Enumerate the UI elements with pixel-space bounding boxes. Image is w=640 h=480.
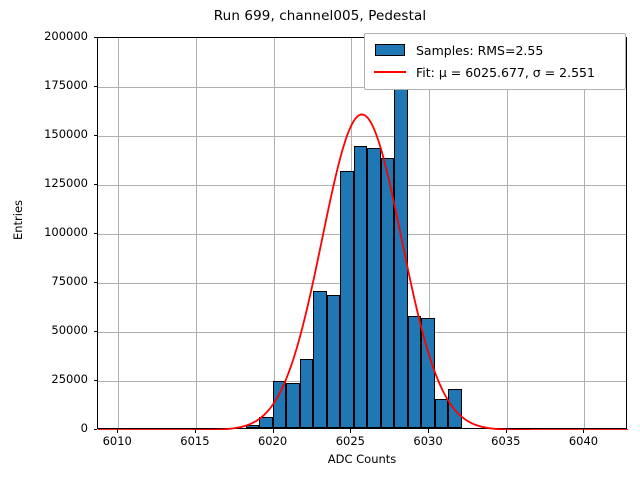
y-tick bbox=[94, 380, 98, 381]
gaussian-fit-curve bbox=[98, 38, 628, 430]
y-tick bbox=[94, 282, 98, 283]
y-tick bbox=[94, 429, 98, 430]
x-tick-label: 6015 bbox=[160, 434, 230, 448]
y-tick bbox=[94, 135, 98, 136]
x-tick bbox=[195, 429, 196, 433]
y-tick-label: 150000 bbox=[0, 127, 88, 141]
x-tick-label: 6035 bbox=[471, 434, 541, 448]
y-tick-label: 175000 bbox=[0, 78, 88, 92]
y-tick-label: 200000 bbox=[0, 29, 88, 43]
x-tick-label: 6020 bbox=[238, 434, 308, 448]
y-tick bbox=[94, 37, 98, 38]
x-tick bbox=[428, 429, 429, 433]
legend-item-fit: Fit: μ = 6025.677, σ = 2.551 bbox=[372, 61, 618, 83]
x-tick bbox=[350, 429, 351, 433]
legend-label-samples: Samples: RMS=2.55 bbox=[408, 43, 543, 58]
x-tick bbox=[273, 429, 274, 433]
plot-area bbox=[97, 37, 627, 429]
y-tick-label: 25000 bbox=[0, 372, 88, 386]
y-tick bbox=[94, 233, 98, 234]
y-tick bbox=[94, 86, 98, 87]
legend: Samples: RMS=2.55 Fit: μ = 6025.677, σ =… bbox=[364, 33, 626, 90]
y-tick bbox=[94, 184, 98, 185]
x-tick-label: 6030 bbox=[393, 434, 463, 448]
legend-item-samples: Samples: RMS=2.55 bbox=[372, 39, 618, 61]
histogram-figure: Run 699, channel005, Pedestal 6010601560… bbox=[0, 0, 640, 480]
y-tick-label: 0 bbox=[0, 421, 88, 435]
x-tick-label: 6040 bbox=[548, 434, 618, 448]
legend-label-fit: Fit: μ = 6025.677, σ = 2.551 bbox=[408, 65, 595, 80]
x-axis-label: ADC Counts bbox=[97, 452, 627, 466]
y-tick-label: 50000 bbox=[0, 323, 88, 337]
legend-swatch-icon bbox=[372, 44, 408, 56]
x-tick bbox=[583, 429, 584, 433]
y-axis-label: Entries bbox=[11, 140, 25, 300]
y-tick bbox=[94, 331, 98, 332]
x-tick bbox=[117, 429, 118, 433]
legend-line-icon bbox=[372, 71, 408, 73]
chart-title: Run 699, channel005, Pedestal bbox=[0, 8, 640, 24]
x-tick bbox=[506, 429, 507, 433]
x-tick-label: 6010 bbox=[82, 434, 152, 448]
x-tick-label: 6025 bbox=[315, 434, 385, 448]
